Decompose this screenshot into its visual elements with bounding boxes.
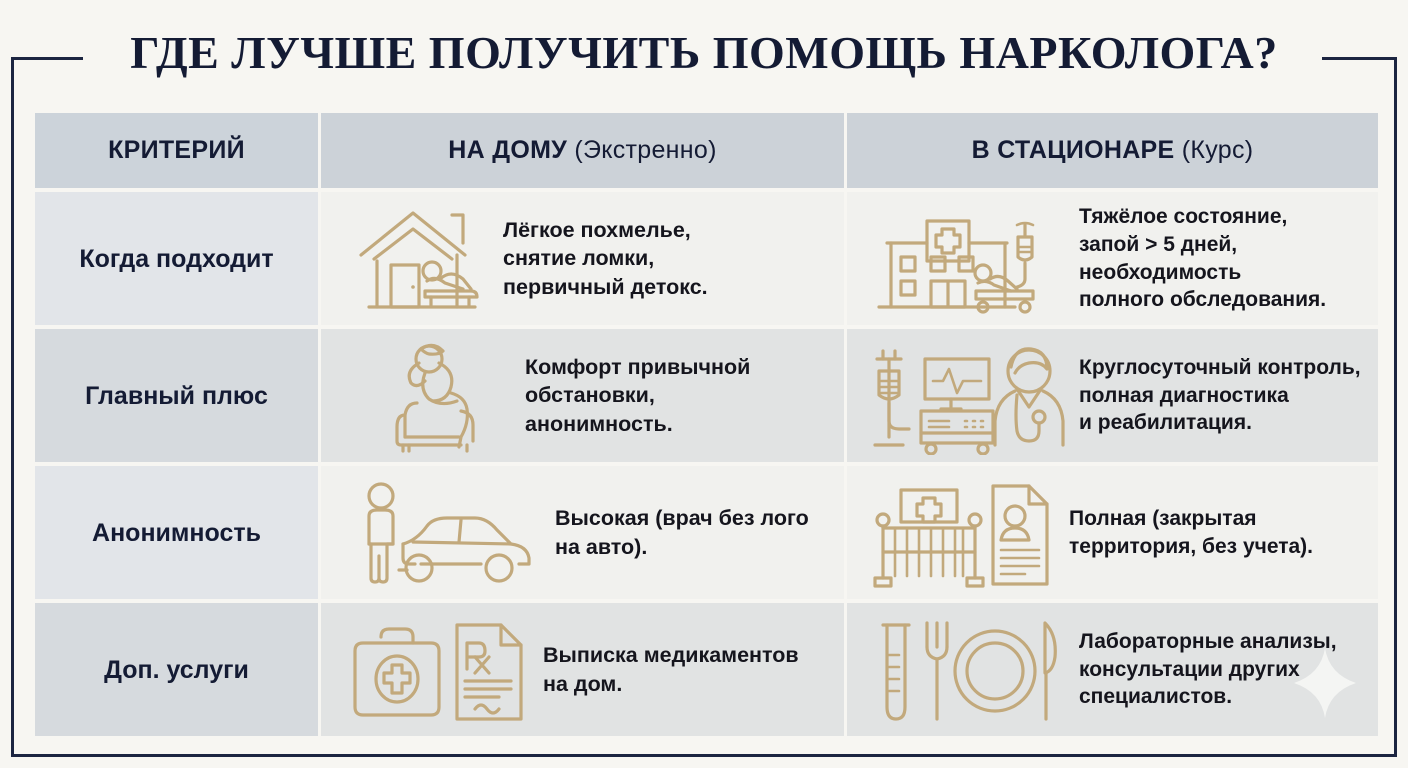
fenced-clinic-and-patient-record-icon	[865, 474, 1055, 592]
home-cell: Комфорт привычной обстановки, анонимност…	[321, 329, 844, 462]
test-tube-and-meal-plate-icon	[865, 615, 1065, 725]
home-cell: Выписка медикаментов на дом.	[321, 603, 844, 736]
hospital-description: Лабораторные анализы, консультации други…	[1079, 628, 1337, 711]
criterion-label: Доп. услуги	[104, 655, 249, 685]
comparison-table: КРИТЕРИЙ НА ДОМУ (Экстренно) В СТАЦИОНАР…	[35, 113, 1378, 730]
table-row: Доп. услуги	[35, 603, 1378, 736]
header-cell-criterion: КРИТЕРИЙ	[35, 113, 318, 188]
criterion-cell: Доп. услуги	[35, 603, 318, 736]
infographic-canvas: ГДЕ ЛУЧШЕ ПОЛУЧИТЬ ПОМОЩЬ НАРКОЛОГА? КРИ…	[0, 0, 1408, 768]
person-relaxing-in-armchair-icon	[381, 337, 511, 455]
criterion-cell: Анонимность	[35, 466, 318, 599]
header-label-home-note: (Экстренно)	[574, 136, 716, 164]
criterion-label: Главный плюс	[85, 381, 268, 411]
frame-border-bottom	[11, 754, 1397, 757]
criterion-cell: Главный плюс	[35, 329, 318, 462]
first-aid-kit-and-prescription-icon	[349, 615, 529, 725]
hospital-description: Круглосуточный контроль, полная диагност…	[1079, 354, 1361, 437]
criterion-label: Анонимность	[92, 518, 261, 548]
header-label-home: НА ДОМУ (Экстренно)	[448, 136, 716, 165]
header-cell-hospital: В СТАЦИОНАРЕ (Курс)	[847, 113, 1378, 188]
header-label-hospital: В СТАЦИОНАРЕ (Курс)	[972, 136, 1254, 165]
page-title: ГДЕ ЛУЧШЕ ПОЛУЧИТЬ ПОМОЩЬ НАРКОЛОГА?	[0, 26, 1408, 79]
home-description: Выписка медикаментов на дом.	[543, 641, 799, 698]
header-label-hospital-strong: В СТАЦИОНАРЕ	[972, 136, 1175, 164]
house-with-patient-on-bed-icon	[339, 199, 489, 319]
hospital-description: Полная (закрытая территория, без учета).	[1069, 505, 1313, 560]
hospital-cell: Круглосуточный контроль, полная диагност…	[847, 329, 1378, 462]
frame-border-right	[1394, 57, 1397, 757]
hospital-cell: Лабораторные анализы, консультации други…	[847, 603, 1378, 736]
header-cell-home: НА ДОМУ (Экстренно)	[321, 113, 844, 188]
hospital-cell: Полная (закрытая территория, без учета).	[847, 466, 1378, 599]
header-label-hospital-note: (Курс)	[1182, 136, 1254, 164]
home-description: Лёгкое похмелье, снятие ломки, первичный…	[503, 216, 708, 301]
criterion-label: Когда подходит	[79, 244, 273, 274]
iv-drip-monitor-doctor-icon	[865, 337, 1065, 455]
home-cell: Лёгкое похмелье, снятие ломки, первичный…	[321, 192, 844, 325]
header-label-home-strong: НА ДОМУ	[448, 136, 567, 164]
home-description: Комфорт привычной обстановки, анонимност…	[525, 353, 750, 438]
table-row: Главный плюс	[35, 329, 1378, 462]
home-cell: Высокая (врач без лого на авто).	[321, 466, 844, 599]
table-row: Анонимность	[35, 466, 1378, 599]
table-header-row: КРИТЕРИЙ НА ДОМУ (Экстренно) В СТАЦИОНАР…	[35, 113, 1378, 188]
hospital-description: Тяжёлое состояние, запой > 5 дней, необх…	[1079, 203, 1326, 314]
header-label-criterion: КРИТЕРИЙ	[108, 136, 245, 165]
hospital-building-with-iv-bed-icon	[865, 199, 1065, 319]
frame-border-left	[11, 57, 14, 757]
table-row: Когда подходит	[35, 192, 1378, 325]
hospital-cell: Тяжёлое состояние, запой > 5 дней, необх…	[847, 192, 1378, 325]
criterion-cell: Когда подходит	[35, 192, 318, 325]
person-and-unmarked-car-icon	[351, 478, 541, 588]
home-description: Высокая (врач без лого на авто).	[555, 504, 809, 561]
